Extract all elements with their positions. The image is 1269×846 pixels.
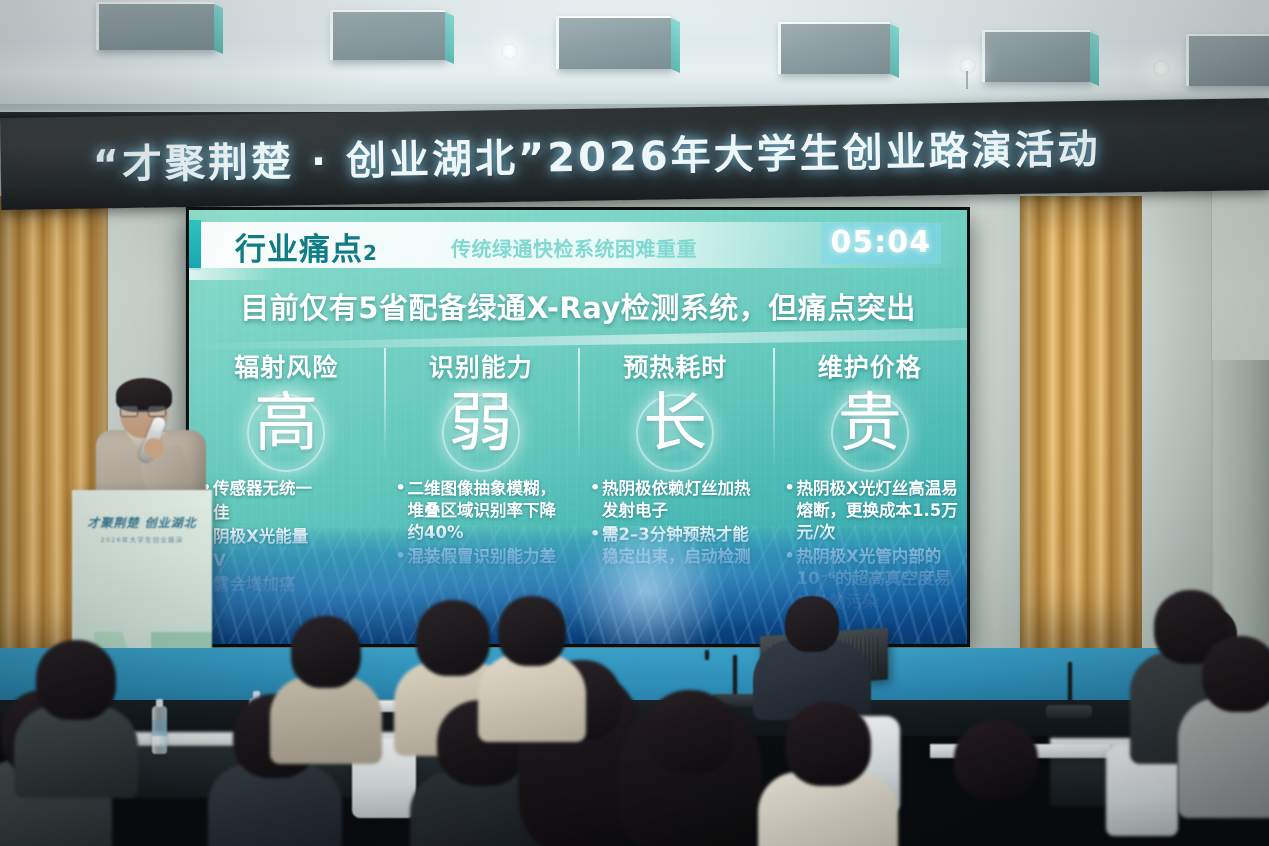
ceiling-downlight <box>501 43 518 60</box>
countdown-timer: 05:04 <box>821 223 942 264</box>
audience-body <box>270 676 382 764</box>
column-glyph-wrap: 弱 <box>392 388 571 472</box>
column-glyph-wrap: 高 <box>197 388 376 472</box>
ceiling-downlight <box>959 57 976 74</box>
column-glyph: 高 <box>254 392 318 456</box>
slide-sub-headline: 目前仅有5省配备绿通X-Ray检测系统，但痛点突出 <box>189 285 967 327</box>
slide-header-title-text: 行业痛点 <box>235 232 363 268</box>
audience-head <box>785 702 871 786</box>
column-title: 辐射风险 <box>197 348 376 384</box>
audience-head <box>498 596 566 666</box>
ceiling-downlight <box>1153 60 1170 77</box>
column-title: 预热耗时 <box>586 348 765 384</box>
presenter-hand <box>144 438 164 458</box>
slide-header-title: 行业痛点2 <box>235 224 378 269</box>
ceiling-vent <box>982 30 1090 82</box>
bullet-item: 热阴极依赖灯丝加热发射电子 <box>590 478 765 522</box>
audience-member <box>480 596 584 736</box>
podium-title: 才聚荆楚 创业湖北 <box>72 514 212 531</box>
column-glyph-wrap: 贵 <box>781 388 960 472</box>
audience-member <box>16 640 136 790</box>
slide-header-title-index: 2 <box>363 241 378 265</box>
column-glyph: 弱 <box>449 392 513 456</box>
water-bottle <box>152 706 167 754</box>
ceiling-vent <box>96 2 214 50</box>
ceiling-vent <box>556 16 671 69</box>
audience-body <box>1178 698 1269 818</box>
audience-head <box>291 616 361 688</box>
curtain-right <box>1020 196 1142 650</box>
audience-head <box>416 600 490 676</box>
audience-member <box>930 720 1062 846</box>
audience-head <box>954 720 1038 800</box>
presentation-slide: 行业痛点2 传统绿通快检系统困难重重 05:04 目前仅有5省配备绿通X-Ray… <box>189 210 967 644</box>
slide-header-accent-bar-2 <box>189 268 275 280</box>
judge-head <box>785 596 839 652</box>
bullet-item: 传感器无统一 <box>201 478 376 500</box>
led-screen: 行业痛点2 传统绿通快检系统困难重重 05:04 目前仅有5省配备绿通X-Ray… <box>186 207 970 647</box>
audience-member <box>620 690 760 846</box>
audience-member <box>1180 636 1269 816</box>
glasses-icon <box>119 406 167 417</box>
column-title: 识别能力 <box>392 348 571 384</box>
column-title: 维护价格 <box>781 348 960 384</box>
wall-panel <box>970 120 1020 680</box>
ceiling-vent <box>778 22 890 74</box>
audience-body <box>478 654 586 742</box>
bullet-item: 佳 <box>201 502 376 524</box>
column-glyph: 长 <box>643 392 707 456</box>
slide-header-accent-bar <box>189 220 201 270</box>
column-glyph-wrap: 长 <box>586 388 765 472</box>
audience-member <box>272 616 380 756</box>
table-microphone-stem <box>1068 662 1072 710</box>
audience-head <box>1202 636 1269 712</box>
ceiling-vent <box>1186 34 1269 86</box>
audience-head <box>646 690 734 774</box>
table-microphone-base <box>1046 705 1092 718</box>
judge <box>752 596 872 714</box>
audience-head <box>36 640 116 720</box>
conference-room-photo: “才聚荆楚 · 创业湖北”2026年大学生创业路演活动 行业痛点2 传统绿通快检… <box>0 0 1269 846</box>
column-glyph: 贵 <box>838 392 902 456</box>
slide-header-subtitle: 传统绿通快检系统困难重重 <box>451 233 697 262</box>
table-microphone-stem <box>705 650 709 660</box>
audience-member <box>760 702 896 846</box>
ceiling-vent <box>330 10 445 60</box>
podium-subtitle: 2026年大学生创业路演 <box>72 534 212 544</box>
strip-glow <box>562 526 732 644</box>
